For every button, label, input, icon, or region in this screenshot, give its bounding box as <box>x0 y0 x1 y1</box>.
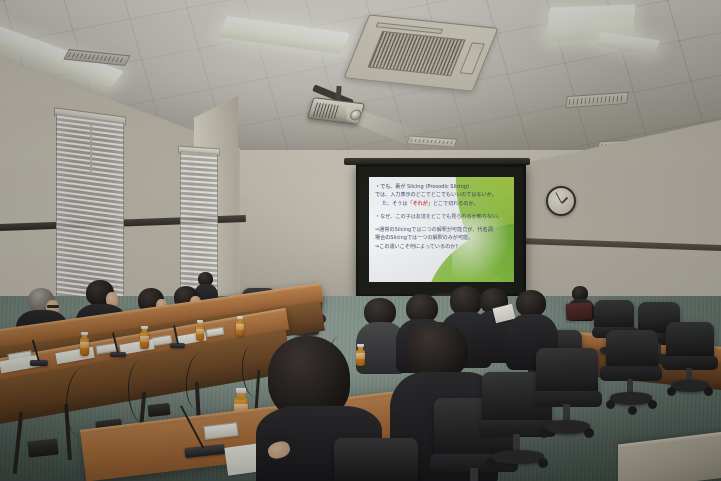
seminar-room-photo: ・でも、裏が Slicing (Prosodic Slicing) では、入力表… <box>0 0 721 481</box>
laptop[interactable] <box>566 302 593 320</box>
floor-power-box <box>147 403 170 417</box>
slide-highlight-phrase: それが <box>413 201 428 207</box>
slide-line: ・でも、裏が Slicing (Prosodic Slicing) <box>375 183 480 191</box>
slide-line: ⇒この違いこそ何によっているのか? <box>375 243 480 251</box>
floor-power-box <box>27 438 59 457</box>
slide-line-highlighted: た、そうは「それが」どこで切れるのか。 <box>375 200 480 208</box>
office-chair[interactable] <box>600 330 662 416</box>
air-conditioner-unit <box>343 14 498 91</box>
slide-text-block: ・でも、裏が Slicing (Prosodic Slicing) では、入力表… <box>375 183 480 278</box>
slide-line: ・なぜ、この子は友達をどこでも見られるか知らない。 <box>375 213 480 221</box>
ac-grille <box>367 31 465 76</box>
wall-clock <box>546 186 576 216</box>
office-chair[interactable] <box>532 348 602 440</box>
slide-line: では、入力表示のどこでどこでもいいのではないか。 <box>375 191 480 199</box>
tea-bottle[interactable] <box>196 320 204 341</box>
desk-microphone[interactable] <box>170 336 185 348</box>
slide-line: ⇒通常のSlicingでは二つの解釈が可能だが、代名詞 <box>375 226 480 234</box>
tea-bottle[interactable] <box>140 326 149 349</box>
tea-bottle[interactable] <box>80 332 89 356</box>
desk-microphone[interactable] <box>110 344 126 357</box>
office-chair[interactable] <box>330 438 422 481</box>
desk-microphone[interactable] <box>30 352 48 366</box>
projection-screen: ・でも、裏が Slicing (Prosodic Slicing) では、入力表… <box>356 164 526 297</box>
presentation-slide: ・でも、裏が Slicing (Prosodic Slicing) では、入力表… <box>369 177 514 282</box>
office-chair[interactable] <box>662 322 718 402</box>
blind-cord[interactable] <box>90 122 92 174</box>
clock-minute-hand <box>555 192 562 203</box>
tea-bottle[interactable] <box>236 316 244 336</box>
slide-line: 場合のSlicingでは一つの解釈のみが可能。 <box>375 234 480 242</box>
eyeglasses-icon <box>47 305 59 308</box>
